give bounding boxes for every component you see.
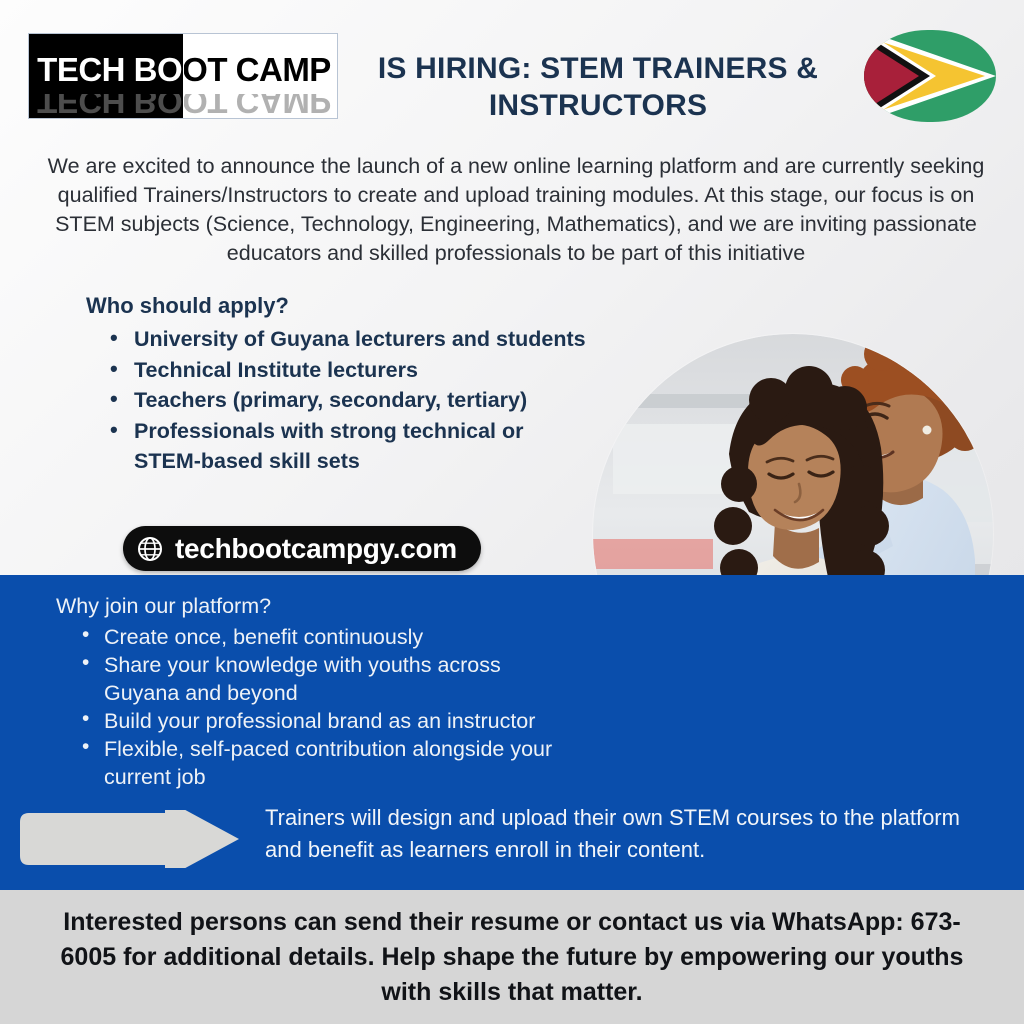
why-join-section: Why join our platform? Create once, bene… bbox=[56, 592, 576, 791]
callout-text: Trainers will design and upload their ow… bbox=[265, 802, 965, 866]
list-item: Professionals with strong technical or S… bbox=[106, 416, 596, 477]
footer-contact-text: Interested persons can send their resume… bbox=[37, 905, 987, 1010]
logo-text-reflection: TECH BOOT CAMP bbox=[29, 94, 338, 119]
list-item: Flexible, self-paced contribution alongs… bbox=[78, 735, 576, 791]
guyana-flag-icon bbox=[864, 30, 996, 122]
tech-boot-camp-logo: TECH BOOT CAMP TECH BOOT CAMP bbox=[28, 33, 338, 119]
website-url: techbootcampgy.com bbox=[175, 533, 457, 565]
header: TECH BOOT CAMP TECH BOOT CAMP IS HIRING:… bbox=[0, 0, 1024, 148]
footer: Interested persons can send their resume… bbox=[0, 890, 1024, 1024]
intro-paragraph: We are excited to announce the launch of… bbox=[42, 152, 990, 268]
who-should-apply-list: University of Guyana lecturers and stude… bbox=[86, 324, 596, 477]
list-item: Share your knowledge with youths across … bbox=[78, 651, 576, 707]
who-should-apply-section: Who should apply? University of Guyana l… bbox=[86, 292, 596, 477]
list-item: Teachers (primary, secondary, tertiary) bbox=[106, 385, 596, 416]
website-badge[interactable]: techbootcampgy.com bbox=[123, 526, 481, 571]
list-item: Build your professional brand as an inst… bbox=[78, 707, 576, 735]
page-title: IS HIRING: STEM TRAINERS & INSTRUCTORS bbox=[338, 50, 858, 124]
list-item: University of Guyana lecturers and stude… bbox=[106, 324, 596, 355]
why-join-list: Create once, benefit continuously Share … bbox=[56, 623, 576, 791]
why-join-title: Why join our platform? bbox=[56, 592, 576, 621]
logo-text: TECH BOOT CAMP bbox=[29, 34, 338, 92]
flyer-canvas: TECH BOOT CAMP TECH BOOT CAMP IS HIRING:… bbox=[0, 0, 1024, 1024]
right-arrow-icon bbox=[8, 810, 240, 868]
list-item: Technical Institute lecturers bbox=[106, 355, 596, 386]
list-item: Create once, benefit continuously bbox=[78, 623, 576, 651]
who-should-apply-title: Who should apply? bbox=[86, 292, 596, 320]
globe-icon bbox=[137, 536, 163, 562]
